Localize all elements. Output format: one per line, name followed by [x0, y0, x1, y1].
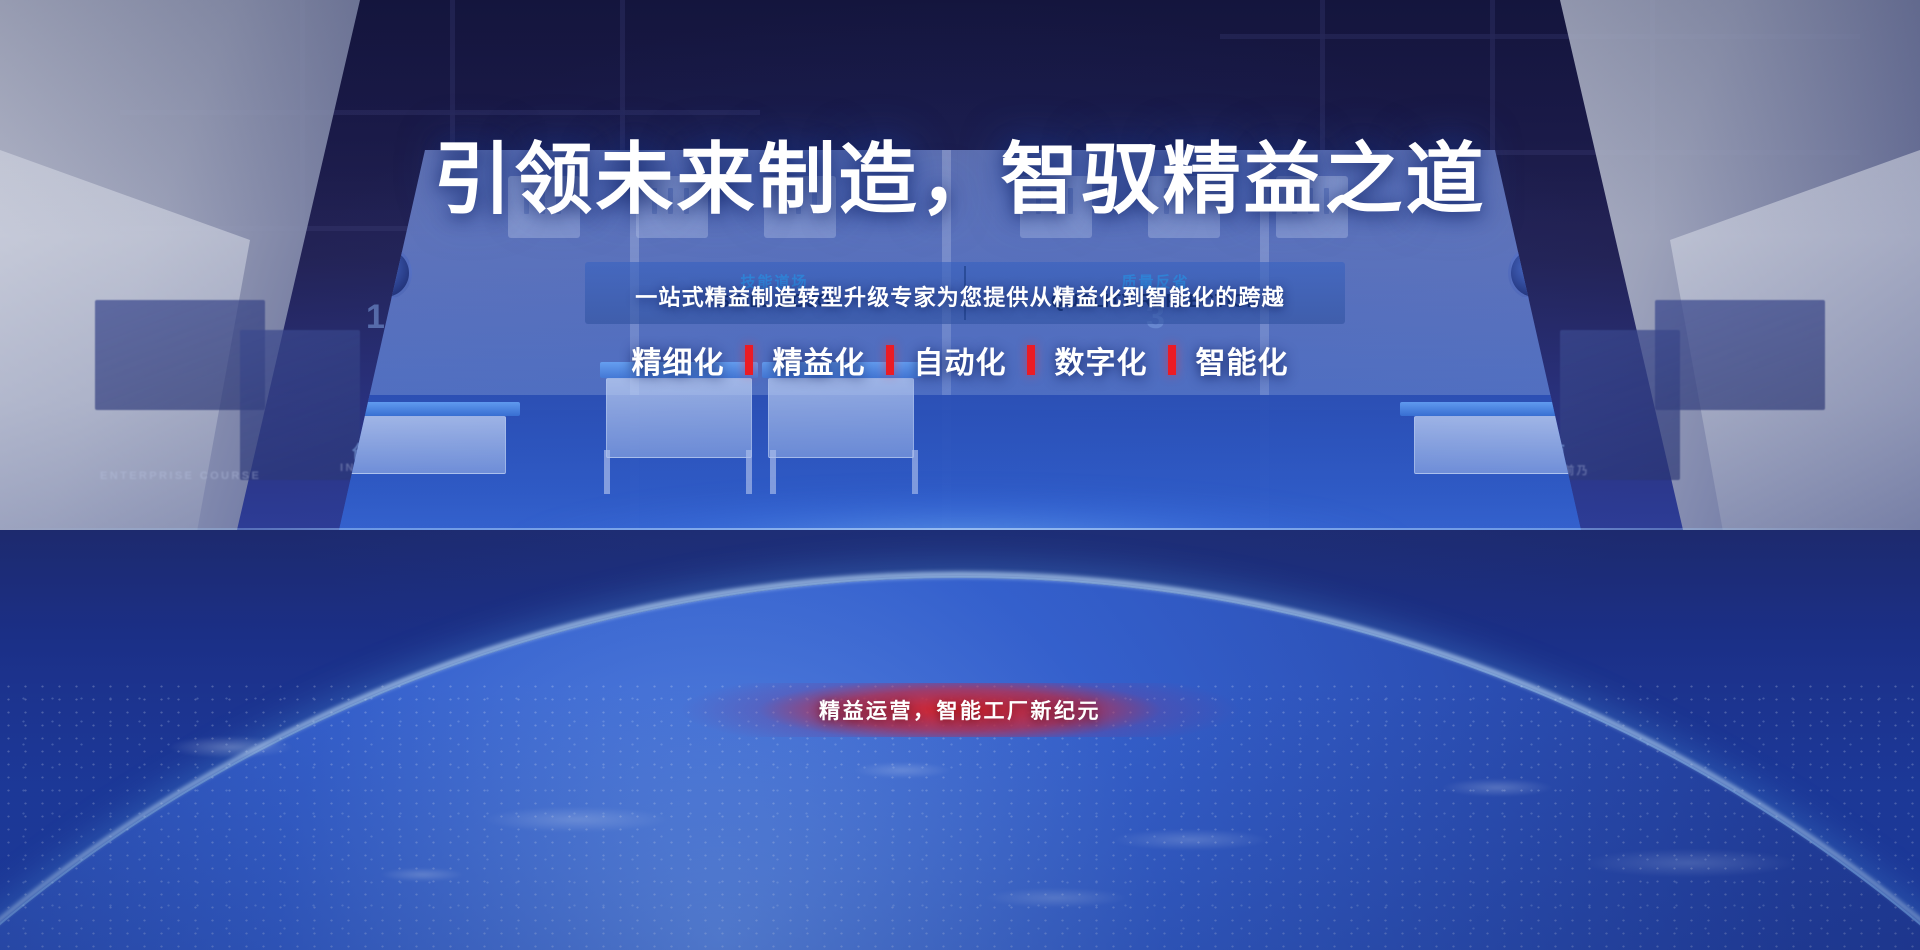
keyword-item: 精细化 — [632, 338, 725, 382]
keyword-item: 智能化 — [1196, 338, 1289, 382]
page-title: 引领未来制造，智驭精益之道 — [433, 140, 1486, 218]
keyword-separator-icon — [1027, 345, 1035, 375]
keyword-separator-icon — [1168, 345, 1176, 375]
keyword-list: 精细化 精益化 自动化 数字化 智能化 — [632, 338, 1289, 382]
tagline-badge-text: 精益运营，智能工厂新纪元 — [819, 695, 1101, 725]
hero-content: 引领未来制造，智驭精益之道 一站式精益制造转型升级专家为您提供从精益化到智能化的… — [0, 0, 1920, 950]
keyword-separator-icon — [886, 345, 894, 375]
hero-subtitle: 一站式精益制造转型升级专家为您提供从精益化到智能化的跨越 — [635, 280, 1285, 312]
keyword-item: 自动化 — [914, 338, 1007, 382]
keyword-separator-icon — [745, 345, 753, 375]
tagline-badge: 精益运营，智能工厂新纪元 — [680, 683, 1240, 737]
keyword-item: 数字化 — [1055, 338, 1148, 382]
keyword-item: 精益化 — [773, 338, 866, 382]
hero-banner: ENTERPRISE COURSE 创新 INNOVANT DOJO 注士南 海… — [0, 0, 1920, 950]
